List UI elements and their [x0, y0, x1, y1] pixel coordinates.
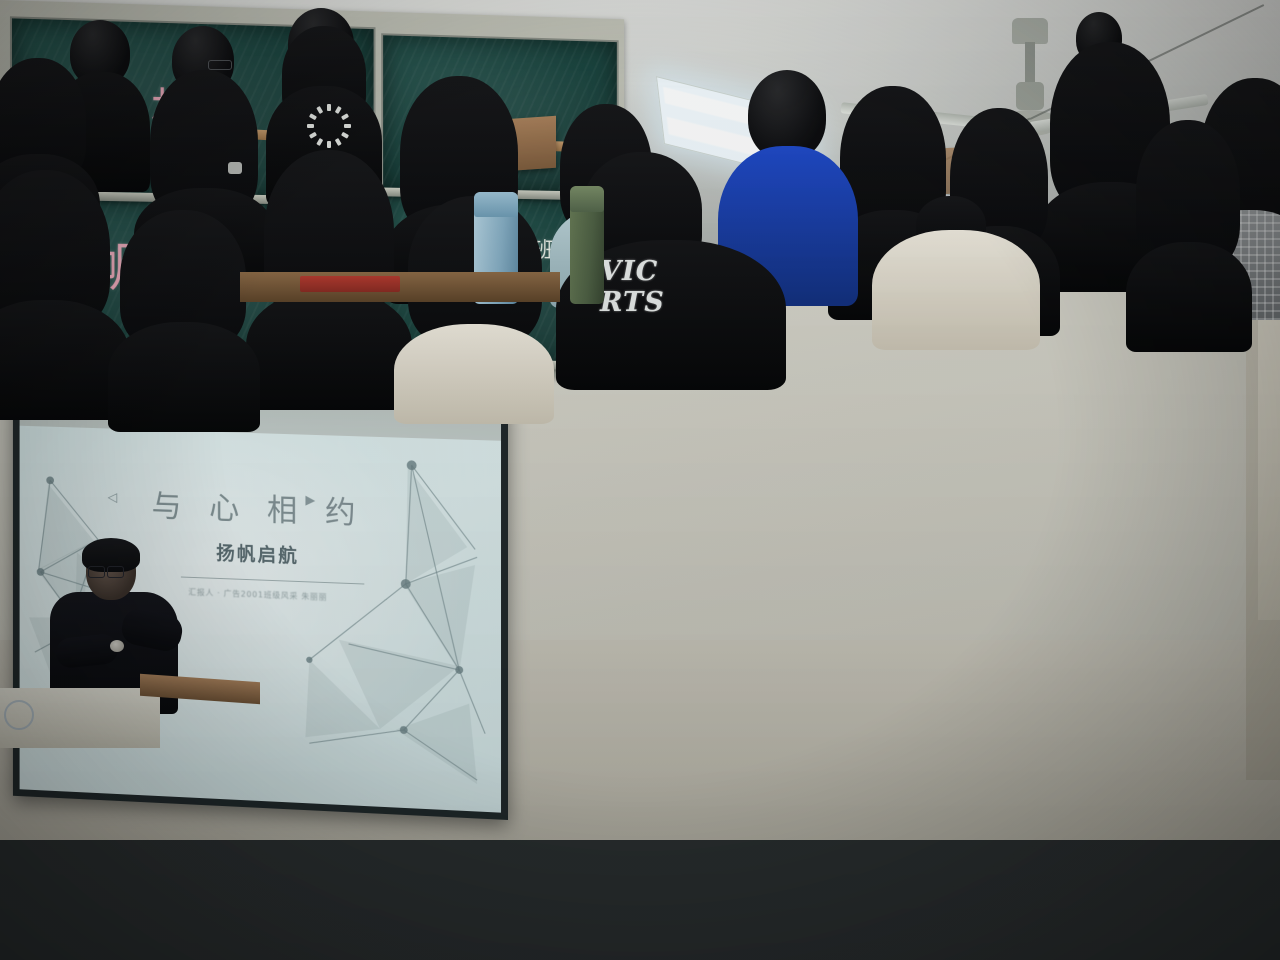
- student-audience: VIC RTS: [0, 820, 1280, 960]
- lectern-emblem: [4, 700, 34, 730]
- presenter-glasses-left: [88, 566, 105, 578]
- classroom-photo: 12 1 2 3 4 5 6 7 8 9 10 11 与心相约 扬帆起航 新生适…: [0, 0, 1280, 960]
- right-wall-pillar: [1258, 320, 1280, 620]
- presenter-hand-holding-chalk: [110, 640, 124, 652]
- ceiling-fan: [1030, 18, 1034, 22]
- presenter-glasses-right: [107, 566, 124, 578]
